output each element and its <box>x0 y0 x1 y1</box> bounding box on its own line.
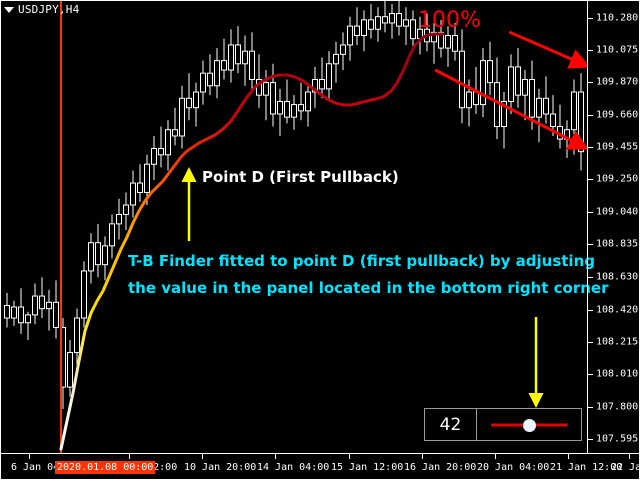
price-tick <box>588 374 593 375</box>
candle-body <box>390 14 395 23</box>
candle-body <box>355 26 360 35</box>
price-tick <box>588 179 593 180</box>
selected-time-label: 2020.01.08 00:00 <box>55 461 155 474</box>
candle-body <box>579 92 584 152</box>
candle-body <box>208 73 213 86</box>
time-tick <box>29 454 30 459</box>
metatrader-chart-window: USDJPY,H4 <box>0 0 640 480</box>
price-tick-label: 108.630 <box>596 271 638 282</box>
candle-body <box>54 302 59 327</box>
price-tick <box>588 310 593 311</box>
time-tick-label: 16 Jan 20:00 <box>404 462 476 473</box>
candle-body <box>110 224 115 246</box>
point-d-annotation: Point D (First Pullback) <box>202 168 399 186</box>
candle-body <box>145 164 150 192</box>
candle-body <box>523 79 528 95</box>
candle-body <box>47 302 52 308</box>
candle-body <box>243 51 248 64</box>
time-tick-label: 10 Jan 20:00 <box>184 462 256 473</box>
price-tick <box>588 277 593 278</box>
tb-finder-panel[interactable]: 42 <box>424 408 582 441</box>
price-tick <box>588 147 593 148</box>
time-tick <box>349 454 350 459</box>
candle-body <box>299 105 304 111</box>
price-tick-label: 108.420 <box>596 304 638 315</box>
candle-body <box>551 114 556 127</box>
candle-body <box>516 67 521 95</box>
price-tick-label: 108.010 <box>596 368 638 379</box>
price-tick <box>588 18 593 19</box>
candle-body <box>194 92 199 108</box>
candle-body <box>411 20 416 39</box>
price-axis[interactable]: 110.280110.075109.870109.660109.455109.2… <box>587 1 639 453</box>
candle-body <box>467 92 472 108</box>
candle-body <box>159 149 164 155</box>
candle-body <box>306 92 311 111</box>
candle-body <box>544 98 549 114</box>
candle-body <box>348 26 353 45</box>
candle-body <box>236 45 241 64</box>
candle-body <box>180 98 185 136</box>
price-tick <box>588 244 593 245</box>
price-tick <box>588 50 593 51</box>
time-tick-label: 14 Jan 04:00 <box>257 462 329 473</box>
price-tick-label: 108.215 <box>596 336 638 347</box>
price-tick <box>588 342 593 343</box>
price-tick-label: 109.870 <box>596 77 638 88</box>
price-tick <box>588 82 593 83</box>
candle-body <box>5 305 10 318</box>
note-line-1: T-B Finder fitted to point D (first pull… <box>128 252 595 270</box>
candle-body <box>68 353 73 388</box>
chart-canvas <box>1 1 587 453</box>
time-tick <box>275 454 276 459</box>
price-tick <box>588 115 593 116</box>
price-tick <box>588 439 593 440</box>
chart-plot-area[interactable] <box>1 1 587 453</box>
candle-body <box>138 183 143 192</box>
candle-body <box>187 98 192 107</box>
time-tick-label: 15 Jan 12:00 <box>331 462 403 473</box>
price-tick-label: 109.660 <box>596 110 638 121</box>
candle-body <box>173 130 178 136</box>
candle-body <box>453 36 458 52</box>
candle-body <box>33 296 38 315</box>
candle-body <box>103 246 108 265</box>
candle-body <box>271 83 276 114</box>
candle-body <box>530 79 535 117</box>
time-tick <box>568 454 569 459</box>
panel-value: 42 <box>440 415 462 435</box>
candle-body <box>362 20 367 36</box>
tb-finder-indicator-line <box>61 34 443 449</box>
candle-body <box>166 130 171 155</box>
candle-body <box>509 67 514 102</box>
time-tick <box>422 454 423 459</box>
candle-body <box>250 51 255 79</box>
price-tick <box>588 212 593 213</box>
candle-body <box>320 79 325 88</box>
panel-slider[interactable] <box>477 409 581 440</box>
candle-body <box>334 54 339 63</box>
candle-body <box>82 271 87 318</box>
candle-body <box>201 73 206 92</box>
time-tick <box>495 454 496 459</box>
candle-body <box>117 214 122 223</box>
time-tick-label: 20 Jan 04:00 <box>477 462 549 473</box>
time-tick-label: 22 Jan 20:00 <box>611 462 640 473</box>
note-line-2: the value in the panel located in the bo… <box>128 279 609 297</box>
time-tick <box>129 454 130 459</box>
candle-body <box>404 20 409 26</box>
price-tick-label: 108.835 <box>596 239 638 250</box>
price-tick-label: 109.250 <box>596 174 638 185</box>
price-tick-label: 110.075 <box>596 44 638 55</box>
candle-body <box>215 61 220 86</box>
candle-body <box>19 307 24 323</box>
candle-body <box>383 17 388 23</box>
symbol-title-bar[interactable]: USDJPY,H4 <box>4 3 79 16</box>
percent-annotation: 100% <box>418 8 481 33</box>
candle-body <box>89 243 94 271</box>
candle-body <box>222 61 227 70</box>
red-trend-arrow <box>509 32 585 65</box>
price-tick-label: 109.040 <box>596 207 638 218</box>
candle-body <box>131 183 136 205</box>
candle-body <box>285 101 290 117</box>
candle-body <box>75 318 80 353</box>
candle-body <box>376 17 381 30</box>
candle-body <box>460 51 465 108</box>
candle-body <box>572 92 577 130</box>
candle-body <box>264 83 269 96</box>
candle-body <box>397 14 402 27</box>
candle-body <box>292 105 297 118</box>
slider-knob[interactable] <box>523 419 536 432</box>
candle-body <box>446 36 451 49</box>
candle-body <box>278 101 283 114</box>
candle-body <box>369 20 374 29</box>
candle-body <box>152 149 157 165</box>
candlestick-series <box>5 1 584 409</box>
candle-body <box>12 307 17 318</box>
panel-value-box[interactable]: 42 <box>425 409 477 440</box>
time-tick <box>629 454 630 459</box>
symbol-label: USDJPY,H4 <box>18 3 79 16</box>
candle-body <box>537 98 542 117</box>
candle-body <box>474 92 479 105</box>
candle-body <box>96 243 101 265</box>
candle-body <box>481 61 486 105</box>
candle-body <box>40 296 45 309</box>
time-axis[interactable]: 6 Jan 04:009 Jan 12:0010 Jan 20:0014 Jan… <box>1 453 639 479</box>
price-tick-label: 110.280 <box>596 12 638 23</box>
candle-body <box>26 315 31 323</box>
price-tick-label: 107.595 <box>596 434 638 445</box>
candle-body <box>229 45 234 70</box>
price-tick-label: 107.800 <box>596 401 638 412</box>
candle-body <box>341 45 346 54</box>
price-tick-label: 109.455 <box>596 142 638 153</box>
candle-body <box>124 205 129 214</box>
candle-body <box>488 61 493 83</box>
price-tick <box>588 407 593 408</box>
time-tick <box>202 454 203 459</box>
chevron-down-icon[interactable] <box>4 7 14 13</box>
candle-body <box>327 64 332 89</box>
